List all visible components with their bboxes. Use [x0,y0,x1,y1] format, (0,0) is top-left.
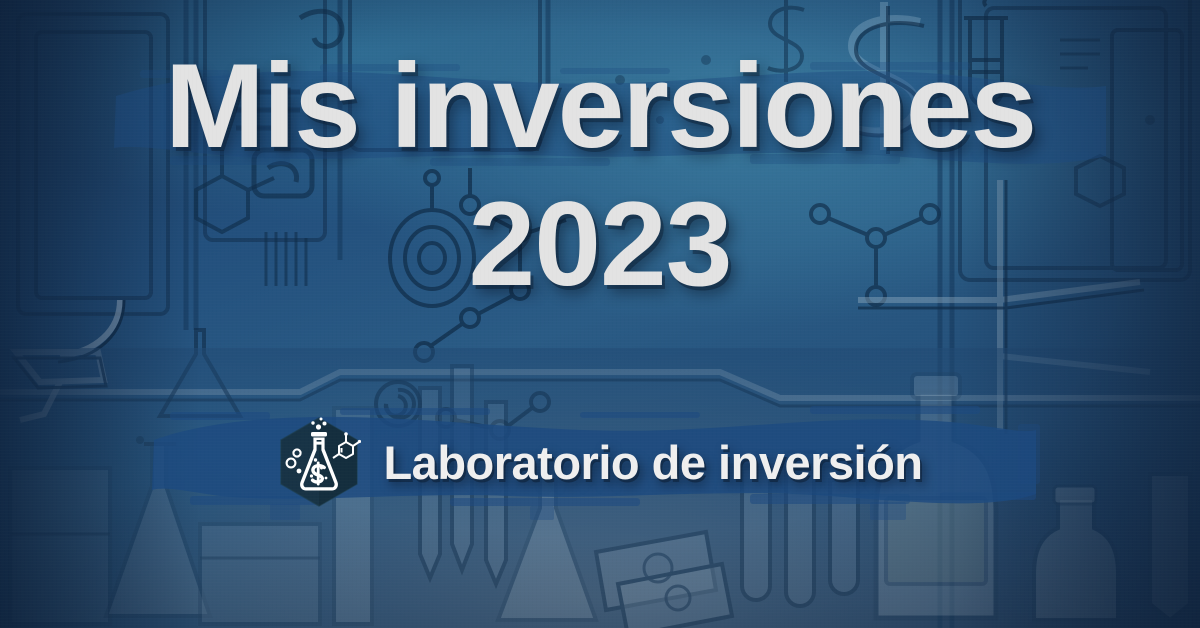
year-label: 2023 [469,166,732,304]
brand-bar: Laboratorio de inversión [0,414,1200,510]
brand-name-label: Laboratorio de inversión [383,435,922,490]
page-title: Mis inversiones [165,0,1035,166]
laboratory-flask-logo-icon [277,416,361,508]
banner: Mis inversiones 2023 [0,0,1200,628]
banner-content: Mis inversiones 2023 [0,0,1200,628]
